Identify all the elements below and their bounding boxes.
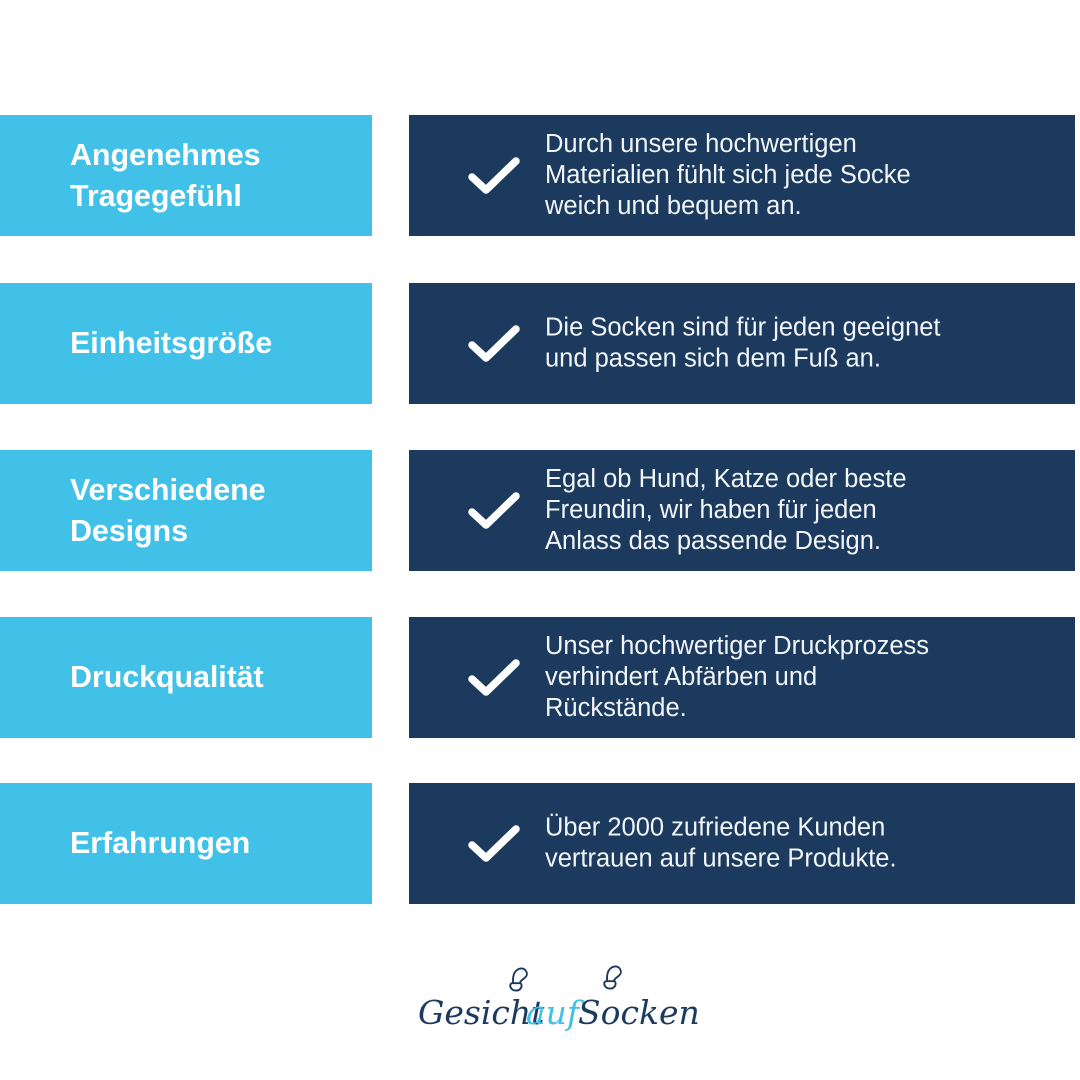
feature-label-block: Verschiedene Designs — [0, 450, 372, 571]
feature-label-block: Erfahrungen — [0, 783, 372, 904]
feature-panel-block: Durch unsere hochwertigen Materialien fü… — [409, 115, 1075, 236]
check-icon — [467, 323, 521, 365]
feature-label-text: Erfahrungen — [70, 823, 250, 864]
logo-part-accent: auf — [526, 993, 585, 1032]
brand-logo-inner: Gesicht auf Socken — [416, 962, 664, 1034]
feature-panel-block: Egal ob Hund, Katze oder beste Freundin,… — [409, 450, 1075, 571]
logo-part-two: Socken — [578, 993, 700, 1032]
feature-row: Erfahrungen Über 2000 zufriedene Kunden … — [0, 783, 1080, 904]
feature-description: Die Socken sind für jeden geeignet und p… — [545, 312, 1059, 375]
feature-label-text: Druckqualität — [70, 657, 264, 698]
check-icon — [467, 490, 521, 532]
feature-description: Durch unsere hochwertigen Materialien fü… — [545, 128, 1059, 222]
brand-logo-svg: Gesicht auf Socken — [416, 962, 664, 1036]
infographic-board: Angenehmes Tragegefühl Durch unsere hoch… — [0, 0, 1080, 1080]
check-icon — [467, 823, 521, 865]
check-icon — [467, 657, 521, 699]
feature-label-block: Angenehmes Tragegefühl — [0, 115, 372, 236]
brand-logo: Gesicht auf Socken — [0, 958, 1080, 1038]
feature-label-block: Einheitsgröße — [0, 283, 372, 404]
sock-icon — [510, 968, 527, 990]
check-icon — [467, 155, 521, 197]
feature-description: Über 2000 zufriedene Kunden vertrauen au… — [545, 812, 1059, 875]
feature-panel-block: Die Socken sind für jeden geeignet und p… — [409, 283, 1075, 404]
feature-row: Verschiedene Designs Egal ob Hund, Katze… — [0, 450, 1080, 571]
sock-icon — [604, 966, 621, 988]
feature-row: Druckqualität Unser hochwertiger Druckpr… — [0, 617, 1080, 738]
feature-label-block: Druckqualität — [0, 617, 372, 738]
feature-row: Einheitsgröße Die Socken sind für jeden … — [0, 283, 1080, 404]
feature-panel-block: Unser hochwertiger Druckprozess verhinde… — [409, 617, 1075, 738]
feature-panel-block: Über 2000 zufriedene Kunden vertrauen au… — [409, 783, 1075, 904]
brand-logo-textlayer: Gesicht auf Socken — [416, 962, 664, 1036]
feature-description: Egal ob Hund, Katze oder beste Freundin,… — [545, 463, 1059, 557]
feature-label-text: Angenehmes Tragegefühl — [70, 135, 261, 216]
feature-row: Angenehmes Tragegefühl Durch unsere hoch… — [0, 115, 1080, 236]
feature-description: Unser hochwertiger Druckprozess verhinde… — [545, 630, 1059, 724]
feature-label-text: Einheitsgröße — [70, 323, 272, 364]
feature-label-text: Verschiedene Designs — [70, 470, 265, 551]
